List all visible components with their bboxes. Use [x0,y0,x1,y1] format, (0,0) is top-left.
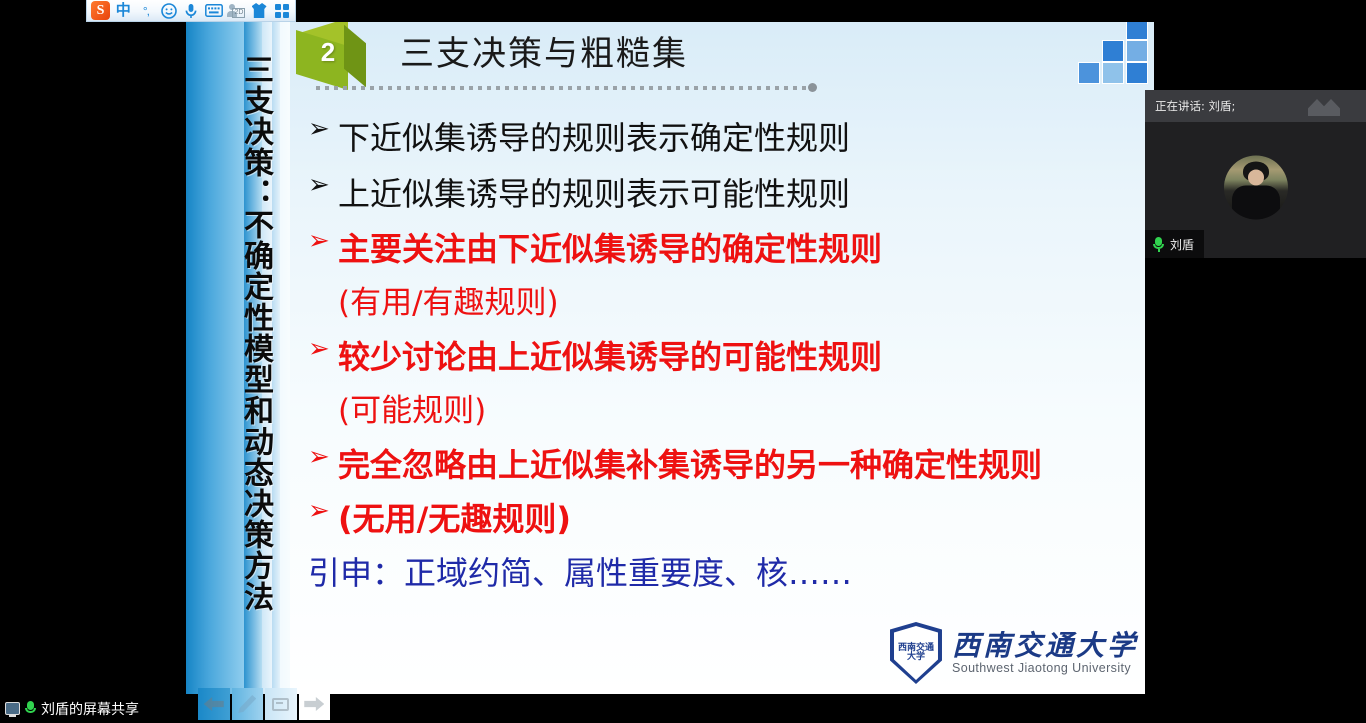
pen-icon [238,695,256,713]
university-name-en: Southwest Jiaotong University [952,661,1138,675]
arrow-left-icon [204,697,224,711]
shield-label: 西南交通大学 [898,630,934,676]
bullet-text: (无用/无趣规则) [338,492,1148,546]
decorative-squares [1072,22,1154,84]
bullet-text: (有用/有趣规则) [338,276,1148,330]
microphone-icon [1153,237,1164,252]
bullet-marker-icon: ➢ [308,438,338,470]
slide-running-title: 三支决策：不确定性模型和动态决策方法 [212,54,270,612]
next-slide-button[interactable] [299,688,331,720]
skin-icon[interactable] [250,1,269,20]
video-stage[interactable]: 刘盾 [1145,122,1366,258]
bullet-text: (可能规则) [338,384,1148,438]
slide-subline: (可能规则) [308,384,1148,438]
video-panel[interactable]: 正在讲话: 刘盾; 刘盾 [1145,90,1366,258]
avatar [1224,155,1288,219]
title-divider-dot [808,83,817,92]
pen-tool-button[interactable] [232,688,264,720]
slide-canvas: 2 三支决策与粗糙集 ➢ 下近似集诱导的规则表示确定性规则 ➢ 上近似集诱导的规… [290,22,1154,694]
toolbox-icon[interactable] [272,1,291,20]
video-panel-header: 正在讲话: 刘盾; [1145,90,1366,122]
slide-bullet: ➢ 下近似集诱导的规则表示确定性规则 [308,110,1148,166]
title-divider [316,86,808,90]
previous-slide-button[interactable] [198,688,230,720]
slide-title: 三支决策与粗糙集 [400,26,688,82]
university-name-cn: 西南交通大学 [952,632,1138,660]
chinese-mode-icon[interactable]: 中 [114,1,133,20]
soft-keyboard-icon[interactable] [205,1,224,20]
bullet-text: 引申：正域约简、属性重要度、核…… [308,546,1148,600]
slide-bullet: ➢ 较少讨论由上近似集诱导的可能性规则 [308,330,1148,384]
slide-bullet: ➢ 完全忽略由上近似集补集诱导的另一种确定性规则 [308,438,1148,492]
bullet-marker-icon: ➢ [308,492,338,524]
bullet-text: 较少讨论由上近似集诱导的可能性规则 [338,330,1148,384]
section-number-cube: 2 [290,24,374,86]
slide-closing-line: 引申：正域约简、属性重要度、核…… [308,546,1148,600]
voice-input-icon[interactable] [182,1,201,20]
bullet-text: 主要关注由下近似集诱导的确定性规则 [338,222,1148,276]
meeting-watermark-icon [1308,94,1352,116]
section-number: 2 [310,36,346,68]
desktop-background [0,0,186,694]
bullet-marker-icon: ➢ [308,330,338,362]
slideshow-controls[interactable] [198,688,330,720]
bullet-text: 完全忽略由上近似集补集诱导的另一种确定性规则 [338,438,1148,492]
bullet-marker-icon: ➢ [308,222,338,254]
bullet-text: 下近似集诱导的规则表示确定性规则 [338,110,1148,166]
share-status-label: 刘盾的屏幕共享 [41,699,139,719]
arrow-right-icon [304,697,324,711]
screen-root: S 中 °, [0,0,1366,723]
bullet-text: 上近似集诱导的规则表示可能性规则 [338,166,1148,222]
slide-bullet: ➢ 上近似集诱导的规则表示可能性规则 [308,166,1148,222]
user-2d-icon[interactable]: 2D [227,1,246,20]
slideshow-menu-button[interactable] [265,688,297,720]
bullet-marker-icon: ➢ [308,110,338,142]
sogou-ime-toolbar[interactable]: S 中 °, [86,0,296,22]
screen-share-status-bar[interactable]: 刘盾的屏幕共享 [0,694,186,723]
punctuation-mode-icon[interactable]: °, [137,1,156,20]
active-speaker-label: 正在讲话: 刘盾; [1155,98,1235,114]
meeting-background [1145,258,1366,723]
microphone-icon [25,701,36,716]
slide-body: ➢ 下近似集诱导的规则表示确定性规则 ➢ 上近似集诱导的规则表示可能性规则 ➢ … [308,110,1148,600]
sogou-logo-icon[interactable]: S [91,1,110,20]
university-shield-icon: 西南交通大学 [890,622,942,684]
slide-bullet: ➢ (无用/无趣规则) [308,492,1148,546]
menu-icon [272,698,289,711]
slide-bullet: ➢ 主要关注由下近似集诱导的确定性规则 [308,222,1148,276]
shared-screen-region: 三支决策：不确定性模型和动态决策方法 2 三支决策与粗糙集 [186,22,1154,694]
slide-subline: (有用/有趣规则) [308,276,1148,330]
bullet-marker-icon: ➢ [308,166,338,198]
screen-share-icon [5,702,20,715]
participant-name: 刘盾 [1170,236,1194,253]
emoji-icon[interactable] [159,1,178,20]
university-logo: 西南交通大学 西南交通大学 Southwest Jiaotong Univers… [890,618,1138,688]
participant-name-badge: 刘盾 [1145,230,1204,258]
